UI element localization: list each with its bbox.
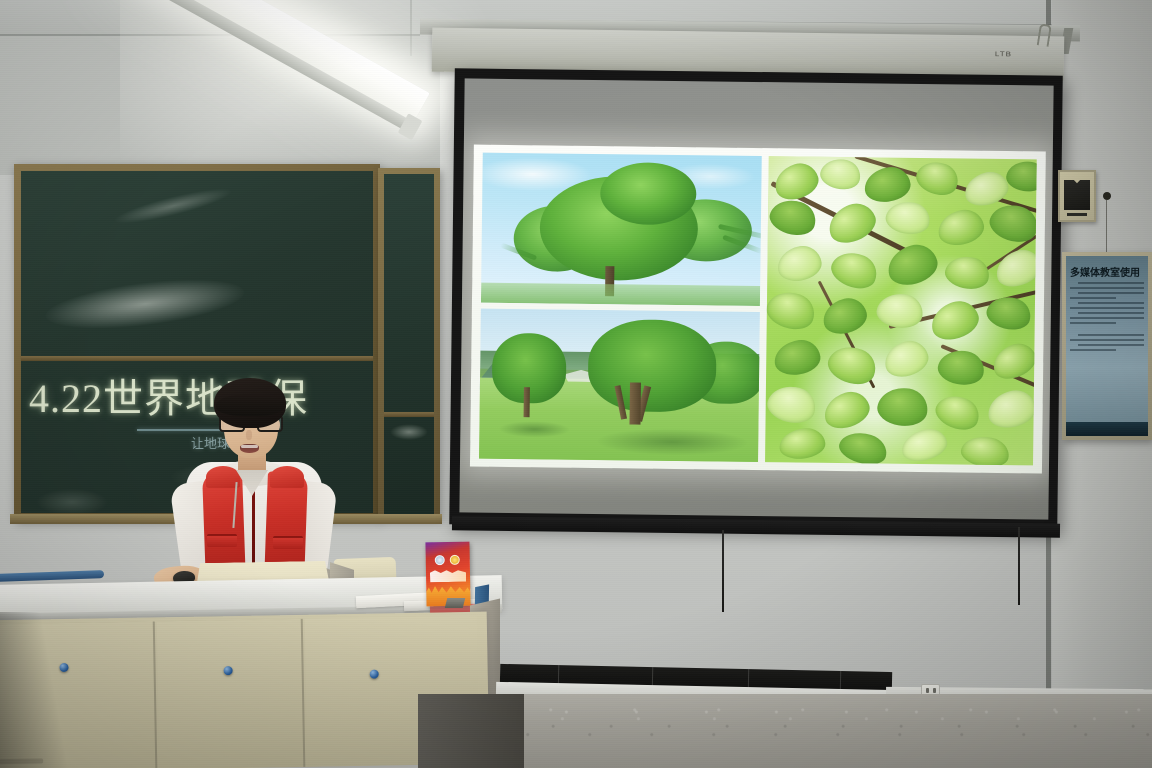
tree-foliage [588, 319, 717, 413]
leaf [898, 425, 950, 465]
chalk-smudge [43, 271, 247, 337]
standee-badge [450, 555, 460, 565]
leaf [883, 240, 941, 290]
poster-text-gap [1070, 327, 1144, 331]
cabinet-vent [0, 758, 43, 764]
leaf [818, 156, 864, 193]
leaf [1004, 158, 1036, 194]
mouth [240, 444, 259, 453]
poster-text-line [1078, 334, 1144, 336]
screen-pull-cord[interactable] [1018, 527, 1020, 605]
poster-text-line [1078, 344, 1144, 346]
poster-text-line [1070, 317, 1144, 319]
outlet-slot [926, 688, 929, 693]
cabinet-lock[interactable] [224, 666, 233, 675]
poster-text-line [1070, 287, 1144, 289]
leaf [875, 384, 930, 429]
leaf [931, 389, 984, 436]
leaf [881, 337, 932, 381]
screen-mount-hook [1037, 23, 1052, 47]
floor-texture [418, 694, 1152, 768]
wall-corner-seam [410, 0, 412, 56]
cabinet-lock[interactable] [370, 670, 379, 679]
tree-trunk [629, 382, 641, 424]
leaf [985, 387, 1037, 432]
leaf [820, 387, 874, 433]
leaf [772, 338, 822, 378]
leaf [765, 381, 819, 428]
poster-text-line [1078, 312, 1144, 314]
wall-speaker-box[interactable] [1058, 170, 1096, 222]
screen-pull-cord[interactable] [722, 530, 724, 612]
speaker-grille [1064, 180, 1090, 210]
speaker-slot [1067, 213, 1087, 216]
backlit-leaves-photo [765, 156, 1037, 465]
podium-cabinet[interactable] [0, 612, 489, 768]
slide-right-column [765, 156, 1037, 465]
leaf [770, 159, 822, 205]
leaf [942, 252, 992, 293]
cabinet-door[interactable] [157, 619, 306, 768]
classroom-photo-scene: 4.22世界地球保 让地球更美好 LTB [0, 0, 1152, 768]
leaf [935, 347, 987, 389]
chalkboard-panel-divider [384, 412, 434, 417]
standee-badge [435, 555, 445, 565]
grass-strip [481, 283, 760, 306]
leaf [959, 433, 1012, 466]
leaf [912, 156, 963, 200]
tree-foliage [600, 162, 697, 225]
event-promo-standee[interactable] [425, 542, 470, 607]
chalk-smudge [390, 424, 428, 440]
classroom-rules-poster: 多媒体教室使用 [1062, 252, 1152, 440]
leaf [988, 338, 1037, 384]
vest-shoulder-right [270, 466, 304, 488]
leaf [991, 245, 1037, 292]
leaf [823, 198, 881, 249]
vest-pocket [207, 534, 237, 547]
cabinet-door[interactable] [0, 621, 157, 768]
poster-text-line [1078, 302, 1144, 304]
chalk-smudge [37, 489, 107, 513]
leaf [765, 286, 819, 335]
outlet-slot [933, 688, 936, 693]
chalk-smudge [113, 183, 234, 229]
poster-sheet: 多媒体教室使用 [1066, 256, 1148, 436]
floor-shadow-area [418, 694, 524, 768]
poster-text-line [1070, 297, 1116, 299]
leaf [935, 206, 987, 248]
housing-label: LTB [995, 50, 1012, 58]
standee-headline-art [430, 570, 466, 583]
teeth [241, 445, 258, 448]
projection-screen-surface [459, 78, 1053, 519]
slide-left-column [479, 153, 762, 462]
leaf [775, 243, 824, 284]
hair-fringe [216, 394, 284, 416]
poster-text-line [1078, 282, 1144, 284]
leaf [883, 198, 932, 238]
poster-text-line [1078, 292, 1144, 294]
poster-text-line [1070, 339, 1144, 341]
poster-title: 多媒体教室使用 [1070, 264, 1146, 279]
poster-text-line [1070, 322, 1116, 324]
leaf [983, 292, 1034, 334]
poster-body-text [1070, 282, 1144, 354]
chalkboard-side-surface [384, 174, 434, 514]
nose [246, 430, 252, 440]
leaf [836, 427, 891, 465]
chalkboard-side-panel [378, 168, 440, 520]
leaf [875, 290, 926, 331]
poster-text-line [1070, 307, 1144, 309]
leaf [778, 427, 827, 461]
chalkboard-panel-divider [21, 356, 373, 361]
tree-trunk [524, 387, 530, 417]
standee-base [445, 598, 465, 608]
leaf [827, 246, 883, 295]
projected-slide [470, 145, 1046, 474]
poster-text-line [1070, 349, 1116, 351]
wall-cable-anchor [1103, 192, 1111, 200]
projection-screen[interactable] [449, 68, 1063, 531]
vest-pocket [273, 536, 303, 549]
tree-canopy-photo [481, 153, 762, 306]
lawn-trees-photo [479, 309, 760, 462]
leaf [926, 296, 983, 345]
poster-footer-band [1066, 422, 1148, 436]
